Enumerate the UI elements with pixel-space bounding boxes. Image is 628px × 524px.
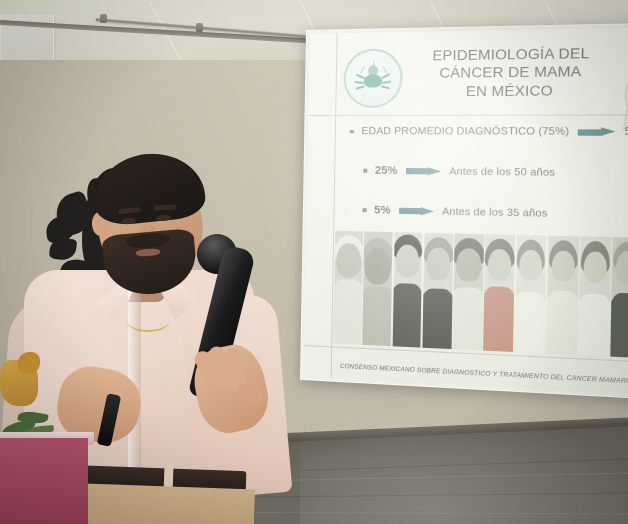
portrait-cell: [546, 236, 579, 355]
bullet-lead: 25%: [375, 165, 398, 177]
slide-title: EPIDEMIOLOGÍA DEL CÁNCER DE MAMA EN MÉXI…: [405, 45, 618, 101]
portrait-cell: [453, 234, 484, 351]
slide-title-line2: EN MÉXICO: [405, 82, 617, 101]
bullet-row: 25% Antes de los 50 años: [363, 165, 628, 180]
portrait-cell: [422, 233, 453, 349]
bullet-lead: 5%: [374, 204, 391, 217]
crab-icon: [357, 64, 390, 93]
awareness-ribbon-icon: [617, 68, 628, 135]
bullet-tail: 50 - 55 AÑOS: [625, 126, 628, 138]
presentation-photo: EPIDEMIOLOGÍA DEL CÁNCER DE MAMA EN MÉXI…: [0, 0, 628, 524]
portrait-cell: [392, 232, 422, 347]
necklace-chain: [126, 308, 170, 332]
bullet-tail: Antes de los 35 años: [442, 206, 548, 219]
presentation-slide: EPIDEMIOLOGÍA DEL CÁNCER DE MAMA EN MÉXI…: [304, 27, 628, 394]
portrait-cell: [363, 231, 393, 346]
pipe-clip: [100, 14, 107, 23]
slide-footer-citation: CONSENSO MEXICANO SOBRE DIAGNÓSTICO Y TR…: [340, 363, 628, 386]
screen-frame: EPIDEMIOLOGÍA DEL CÁNCER DE MAMA EN MÉXI…: [300, 23, 628, 399]
portrait-cell: [333, 231, 363, 345]
right-arrow-icon: [399, 206, 434, 216]
slide-title-line1: EPIDEMIOLOGÍA DEL CÁNCER DE MAMA: [432, 45, 589, 82]
right-arrow-icon: [578, 127, 616, 137]
bullet-marker: [363, 169, 367, 173]
crab-cancer-logo: [343, 48, 403, 107]
portrait-strip-of-women: [333, 231, 628, 358]
gold-decoration: [18, 352, 40, 374]
head-hair: [91, 148, 208, 227]
portrait-cell: [578, 236, 611, 356]
projection-screen: EPIDEMIOLOGÍA DEL CÁNCER DE MAMA EN MÉXI…: [300, 23, 628, 399]
bullet-tail: Antes de los 50 años: [449, 166, 555, 179]
slide-title-rule: [308, 114, 628, 116]
portrait-cell: [515, 235, 547, 354]
bullet-marker: [363, 208, 367, 212]
right-arrow-icon: [406, 166, 441, 176]
portrait-cell: [611, 237, 628, 358]
bullet-row: 5% Antes de los 35 años: [362, 204, 628, 222]
portrait-cell: [483, 234, 515, 352]
podium: [0, 438, 88, 524]
floor-reflection: [300, 394, 628, 524]
bullet-row: EDAD PROMEDIO DIAGNÓSTICO (75%) 50 - 55 …: [350, 126, 628, 138]
pipe-clip: [196, 23, 203, 32]
bullet-lead: EDAD PROMEDIO DIAGNÓSTICO (75%): [361, 126, 569, 138]
bullet-marker: [350, 130, 354, 134]
